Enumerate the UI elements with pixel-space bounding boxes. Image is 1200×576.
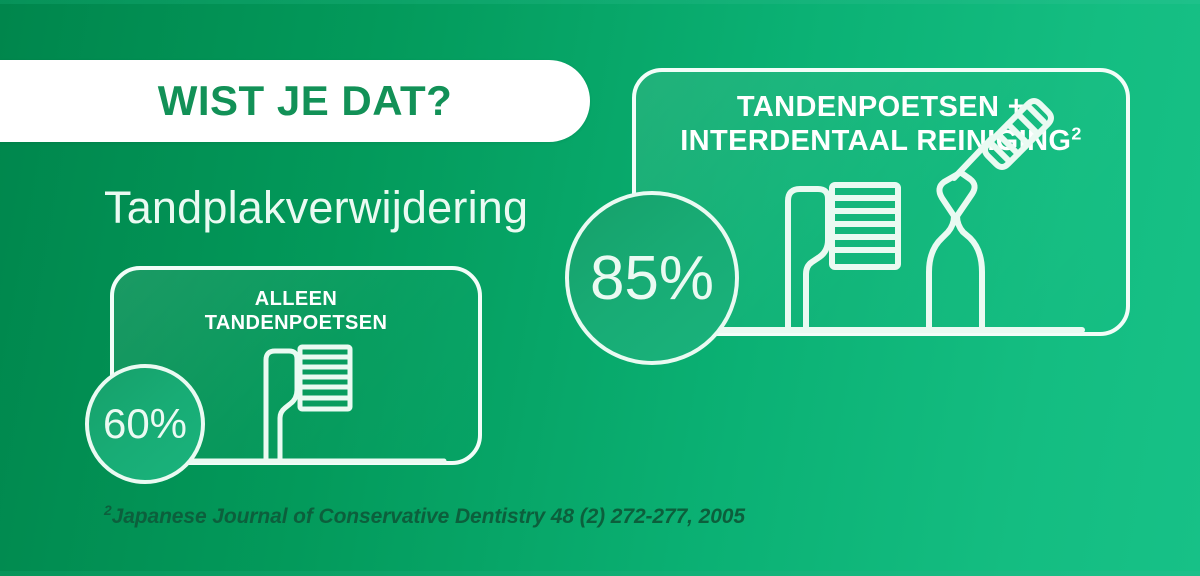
top-edge-band <box>0 0 1200 4</box>
title-banner: WIST JE DAT? <box>0 60 590 142</box>
card-label-right-line1: TANDENPOETSEN + <box>737 91 1025 123</box>
card-label-left: ALLEEN TANDENPOETSEN <box>114 288 478 335</box>
footnote-text: Japanese Journal of Conservative Dentist… <box>112 505 745 528</box>
percent-value-85: 85% <box>590 243 714 314</box>
card-label-left-line1: ALLEEN <box>255 288 337 310</box>
toothbrush-icon <box>788 185 898 330</box>
subtitle: Tandplakverwijdering <box>104 182 528 234</box>
percent-circle-85: 85% <box>565 191 739 365</box>
infographic-root: WIST JE DAT? Tandplakverwijdering TANDEN… <box>0 0 1200 576</box>
card-label-right-line2: INTERDENTAAL REINIGING <box>680 125 1071 157</box>
toothbrush-icon <box>266 347 350 461</box>
card-label-right-superscript: 2 <box>1071 124 1081 144</box>
card-label-left-line2: TANDENPOETSEN <box>205 312 388 334</box>
toothbrush-bristle-block <box>832 185 898 267</box>
footnote-marker: 2 <box>104 502 112 518</box>
card-label-right: TANDENPOETSEN + INTERDENTAAL REINIGING2 <box>636 90 1126 158</box>
bottom-edge-band <box>0 571 1200 576</box>
page-title: WIST JE DAT? <box>98 77 453 125</box>
toothbrush-bristle-block <box>300 347 350 409</box>
percent-value-60: 60% <box>103 400 187 448</box>
footnote: 2Japanese Journal of Conservative Dentis… <box>104 505 745 529</box>
percent-circle-60: 60% <box>85 364 205 484</box>
